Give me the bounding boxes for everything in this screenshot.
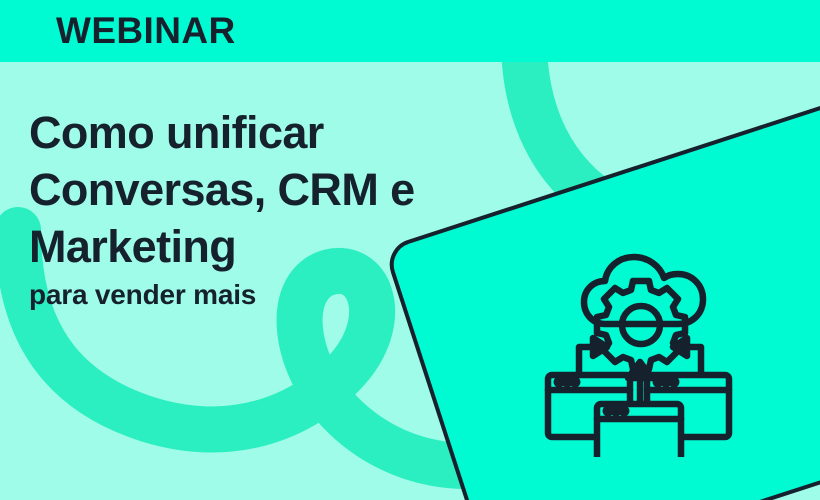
header-bar: WEBINAR xyxy=(0,0,820,62)
headline-subtitle: para vender mais xyxy=(29,277,509,313)
headline-block: Como unificar Conversas, CRM e Marketing… xyxy=(29,104,509,313)
headline-line-1: Como unificar xyxy=(29,104,509,161)
headline-line-2: Conversas, CRM e xyxy=(29,161,509,218)
webinar-banner: Como unificar Conversas, CRM e Marketing… xyxy=(0,0,820,500)
browser-window-icon-front xyxy=(597,404,681,457)
arrow-left-icon xyxy=(579,338,607,374)
cloud-sync-icon xyxy=(535,252,740,457)
headline-line-3: Marketing xyxy=(29,218,509,275)
webinar-eyebrow-label: WEBINAR xyxy=(56,4,236,58)
